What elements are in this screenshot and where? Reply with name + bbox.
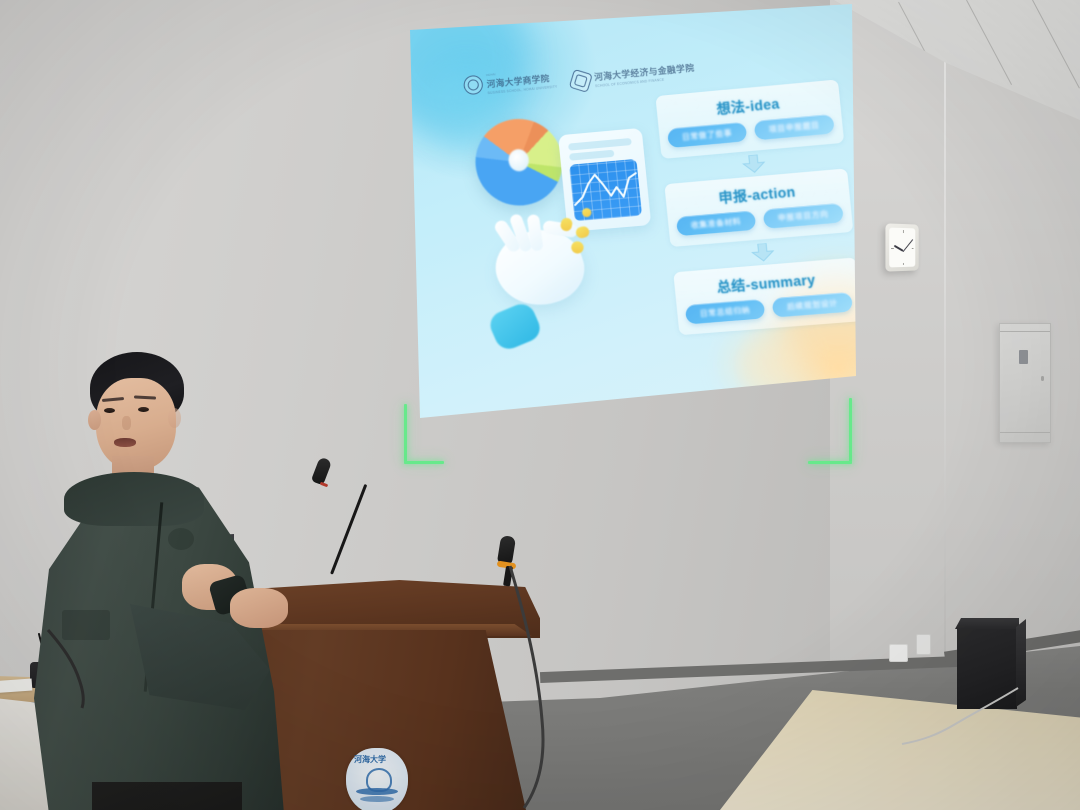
university-seal-icon — [569, 69, 593, 93]
projector-keystone-marker-left — [404, 404, 444, 464]
step-pill[interactable]: 申报项目方向 — [763, 203, 844, 229]
wall-corner — [944, 0, 946, 700]
data-analytics-illustration — [463, 100, 681, 368]
wall-outlet[interactable] — [889, 644, 908, 662]
hohai-university-emblem: 河海大学 — [346, 748, 408, 810]
wall-plug[interactable] — [916, 634, 931, 655]
presenter-trousers — [92, 782, 242, 810]
step-pill[interactable]: 后续规划设计 — [772, 292, 853, 318]
flow-step-summary: 总结-summary 日常总结归纳 后续规划设计 — [673, 257, 856, 335]
step-pill[interactable]: 项目申报题目 — [754, 114, 835, 141]
clock-face — [889, 228, 915, 268]
mic-cable — [40, 620, 160, 710]
emblem-text: 河海大学 — [354, 754, 386, 765]
pointing-hand-graphic — [474, 203, 609, 354]
wall-clock — [885, 223, 918, 271]
step-pill[interactable]: 收集准备材料 — [676, 210, 756, 236]
logo-business-school: HOHAI 河海大学商学院 BUSINESS SCHOOL, HOHAI UNI… — [463, 66, 558, 97]
floor-cable — [480, 560, 680, 810]
projector-keystone-marker-right — [808, 398, 852, 464]
speaker-cable — [900, 686, 1020, 746]
three-step-flow: 想法-idea 日常做了些事 项目申报题目 — [655, 79, 856, 339]
step-pill[interactable]: 日常做了些事 — [667, 122, 747, 148]
clock-minute-hand — [902, 239, 913, 252]
screenshot-root: HOHAI 河海大学商学院 BUSINESS SCHOOL, HOHAI UNI… — [0, 0, 1080, 810]
logo-economics-finance-school: 河海大学经济与金融学院 SCHOOL OF ECONOMICS AND FINA… — [570, 61, 695, 92]
panel-lock-icon — [1041, 376, 1044, 381]
presenter-hand-right — [230, 588, 288, 628]
university-seal-icon — [463, 75, 484, 96]
presenter — [34, 352, 284, 810]
flow-step-idea: 想法-idea 日常做了些事 项目申报题目 — [655, 79, 844, 159]
flow-step-action: 申报-action 收集准备材料 申报项目方向 — [664, 168, 853, 247]
electrical-panel[interactable] — [999, 323, 1051, 443]
step-pill[interactable]: 日常总结归纳 — [685, 299, 766, 325]
panel-switch-icon — [1019, 350, 1028, 364]
jacket-hood — [64, 472, 204, 526]
projected-slide: HOHAI 河海大学商学院 BUSINESS SCHOOL, HOHAI UNI… — [404, 4, 856, 418]
